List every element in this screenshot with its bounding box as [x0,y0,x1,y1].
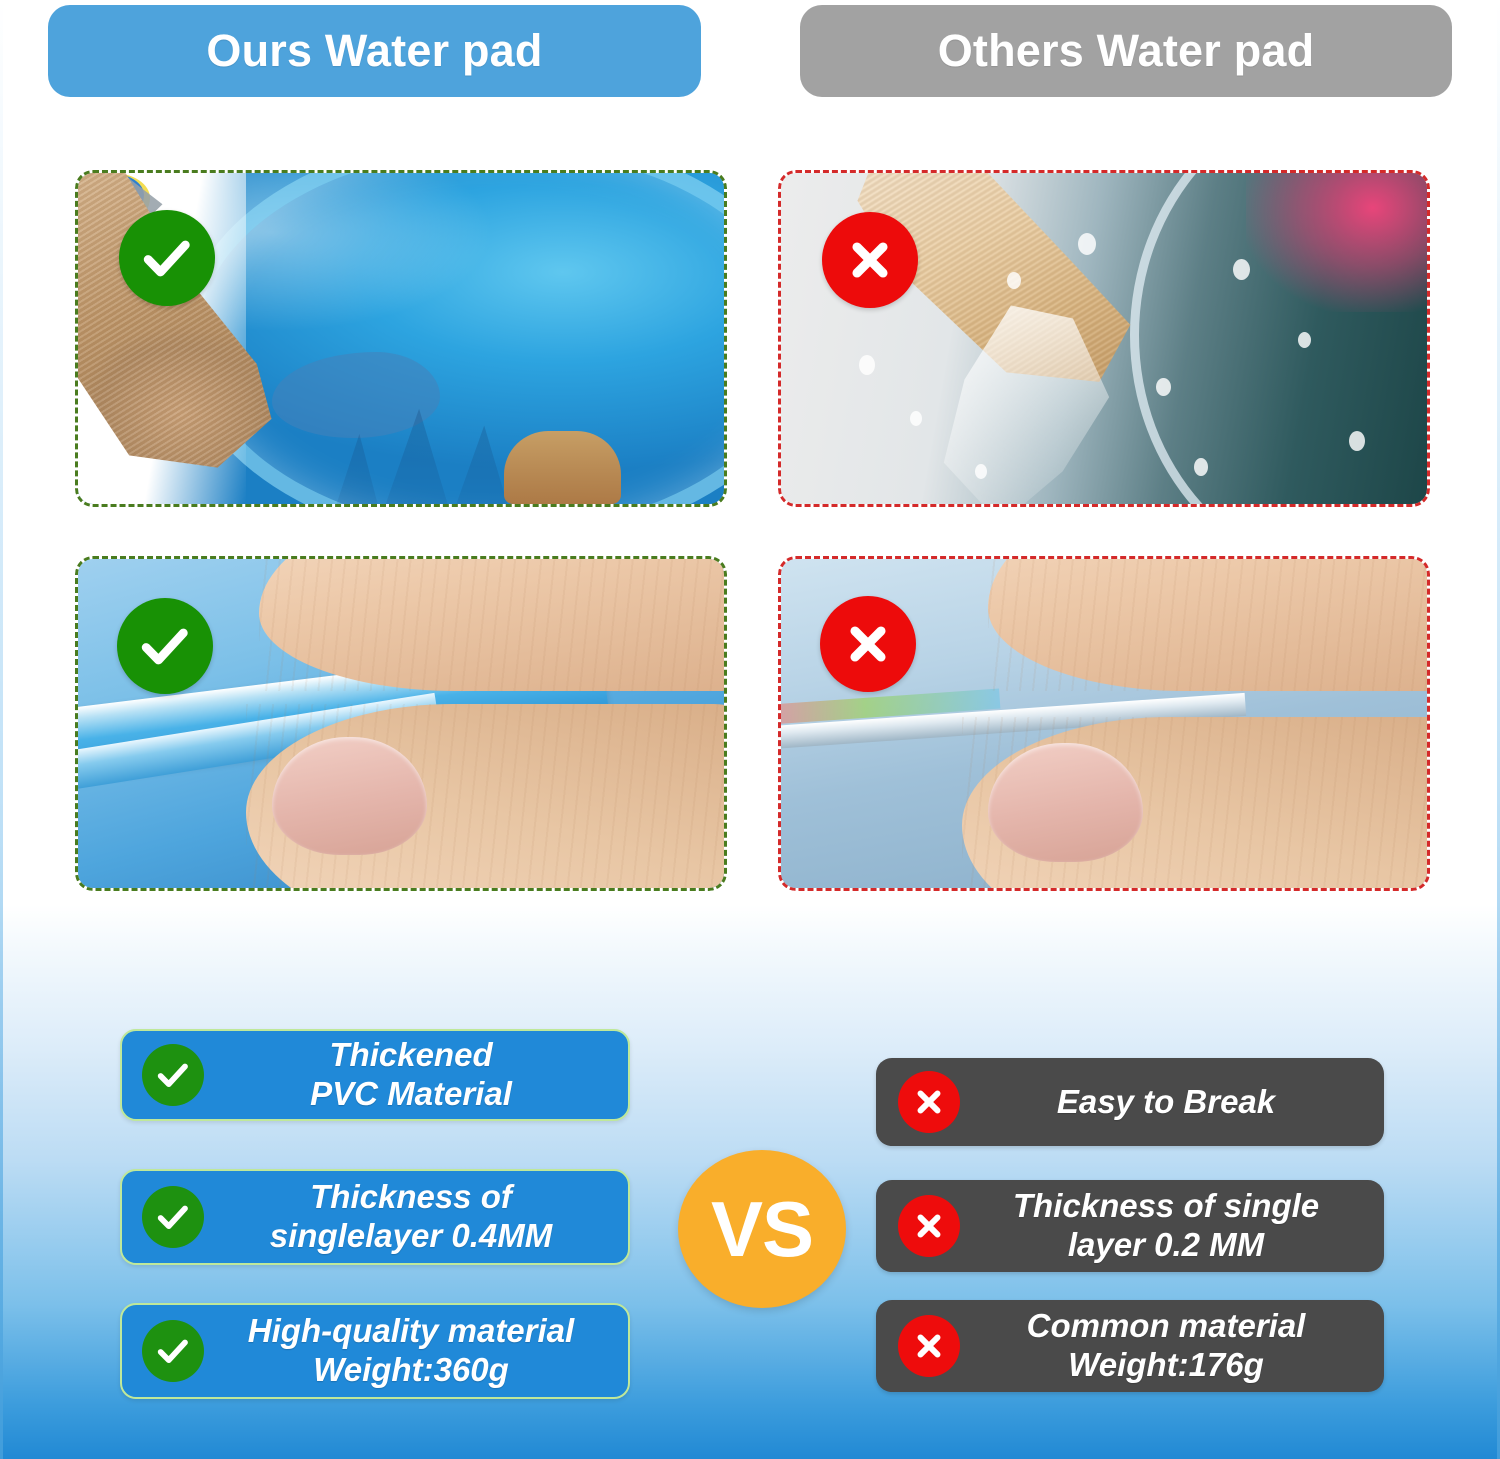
cross-icon [898,1195,960,1257]
feature-others-3: Common material Weight:176g [876,1300,1384,1392]
feature-label: Thickness of singlelayer 0.4MM [204,1178,628,1256]
feature-others-2: Thickness of single layer 0.2 MM [876,1180,1384,1272]
feature-label: Common material Weight:176g [960,1307,1382,1385]
skin-texture [259,559,724,691]
skin-texture [988,559,1427,691]
water-droplet [1156,378,1171,396]
feature-label: High-quality material Weight:360g [204,1312,628,1390]
feature-label: Easy to Break [960,1083,1382,1122]
check-icon [142,1320,204,1382]
cross-icon [822,212,918,308]
treasure-chest-graphic [504,431,620,504]
upper-finger [259,559,724,691]
water-droplet [1078,233,1096,255]
comparison-infographic: Ours Water pad Others Water pad [0,0,1500,1459]
check-icon [142,1186,204,1248]
cross-icon [820,596,916,692]
upper-finger [988,559,1427,691]
check-icon [119,210,215,306]
vs-badge: VS [678,1150,846,1308]
feature-others-1: Easy to Break [876,1058,1384,1146]
water-droplet [859,355,875,375]
feature-ours-1: Thickened PVC Material [120,1029,630,1121]
cross-icon [898,1071,960,1133]
feature-ours-3: High-quality material Weight:360g [120,1303,630,1399]
feature-label: Thickness of single layer 0.2 MM [960,1187,1382,1265]
feature-label: Thickened PVC Material [204,1036,628,1114]
thumbnail [988,743,1143,861]
check-icon [117,598,213,694]
check-icon [142,1044,204,1106]
feature-ours-2: Thickness of singlelayer 0.4MM [120,1169,630,1265]
water-droplet [975,464,987,479]
cross-icon [898,1315,960,1377]
vs-label: VS [711,1184,813,1275]
water-droplet [1298,332,1311,348]
